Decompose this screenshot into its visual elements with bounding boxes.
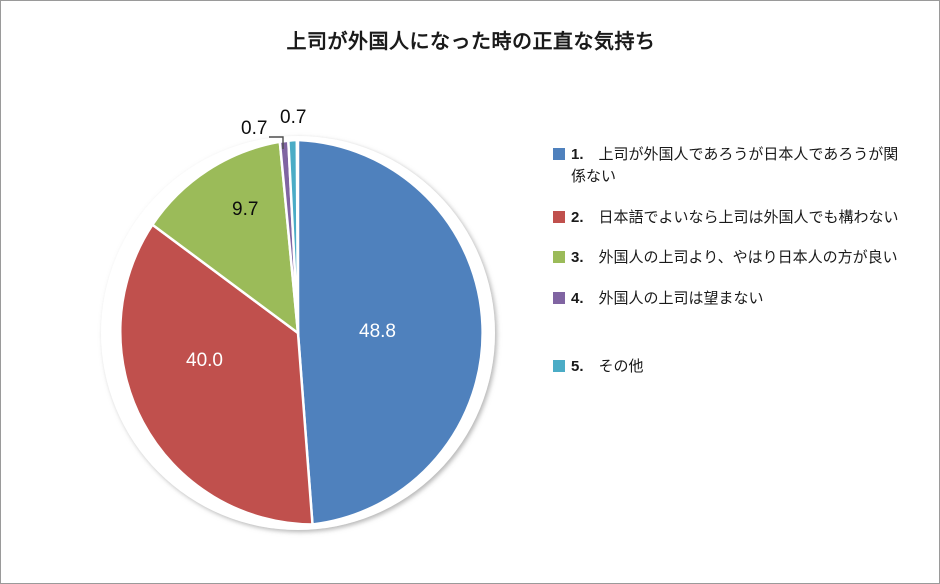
legend-index-3: 3. bbox=[571, 249, 584, 266]
legend-index-1: 1. bbox=[571, 146, 584, 163]
legend-item-1[interactable]: 1. 上司が外国人であろうが日本人であろうが関係ない bbox=[553, 144, 929, 188]
chart-legend: 1. 上司が外国人であろうが日本人であろうが関係ない 2. 日本語でよいなら上司… bbox=[553, 144, 929, 397]
pie-svg bbox=[97, 131, 507, 541]
pie-chart-figure: 上司が外国人になった時の正直な気持ち 48.8 4 bbox=[0, 0, 940, 584]
legend-item-5[interactable]: 5. その他 bbox=[553, 356, 929, 378]
legend-swatch-icon-5 bbox=[553, 360, 565, 372]
legend-text-5: その他 bbox=[584, 358, 644, 375]
legend-text-4: 外国人の上司は望まない bbox=[584, 290, 764, 307]
legend-label-3: 3. 外国人の上司より、やはり日本人の方が良い bbox=[571, 247, 898, 269]
slice-value-label-5: 0.7 bbox=[280, 107, 306, 129]
legend-item-2[interactable]: 2. 日本語でよいなら上司は外国人でも構わない bbox=[553, 207, 929, 229]
pie-slice-1[interactable] bbox=[298, 140, 483, 524]
legend-text-2: 日本語でよいなら上司は外国人でも構わない bbox=[584, 209, 899, 226]
legend-index-2: 2. bbox=[571, 209, 584, 226]
legend-swatch-icon-1 bbox=[553, 148, 565, 160]
legend-item-3[interactable]: 3. 外国人の上司より、やはり日本人の方が良い bbox=[553, 247, 929, 269]
legend-swatch-icon-2 bbox=[553, 211, 565, 223]
legend-label-1: 1. 上司が外国人であろうが日本人であろうが関係ない bbox=[571, 144, 901, 188]
legend-index-5: 5. bbox=[571, 358, 584, 375]
legend-index-4: 4. bbox=[571, 290, 584, 307]
legend-text-3: 外国人の上司より、やはり日本人の方が良い bbox=[584, 249, 898, 266]
legend-text-1: 上司が外国人であろうが日本人であろうが関係ない bbox=[571, 146, 898, 185]
legend-swatch-icon-4 bbox=[553, 292, 565, 304]
chart-title: 上司が外国人になった時の正直な気持ち bbox=[1, 25, 940, 54]
pie-plot-area: 48.8 40.0 9.7 0.7 0.7 bbox=[97, 131, 507, 541]
legend-swatch-icon-3 bbox=[553, 251, 565, 263]
legend-label-4: 4. 外国人の上司は望まない bbox=[571, 288, 764, 310]
legend-label-2: 2. 日本語でよいなら上司は外国人でも構わない bbox=[571, 207, 899, 229]
legend-label-5: 5. その他 bbox=[571, 356, 644, 378]
legend-item-4[interactable]: 4. 外国人の上司は望まない bbox=[553, 288, 929, 310]
